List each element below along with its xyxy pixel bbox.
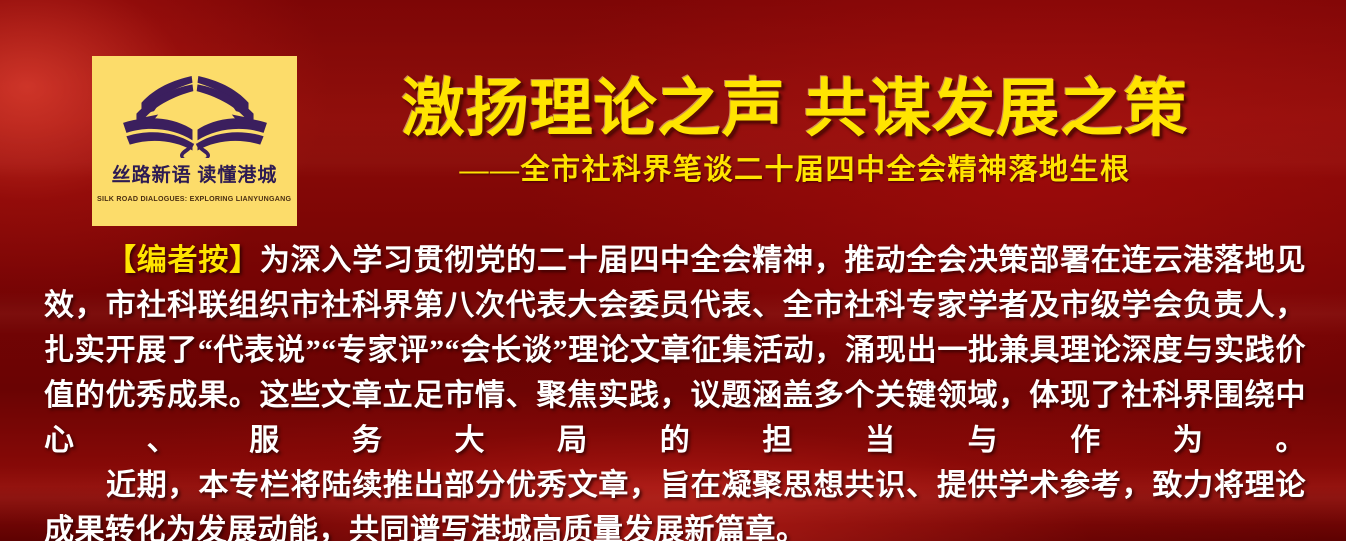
paragraph-2-text: 近期，本专栏将陆续推出部分优秀文章，旨在凝聚思想共识、提供学术参考，致力将理论成… [44,469,1306,541]
paragraph-2: 近期，本专栏将陆续推出部分优秀文章，旨在凝聚思想共识、提供学术参考，致力将理论成… [44,463,1306,541]
main-title: 激扬理论之声 共谋发展之策 [315,74,1275,144]
title-block: 激扬理论之声 共谋发展之策 ——全市社科界笔谈二十届四中全会精神落地生根 [315,74,1275,190]
logo-badge: 丝路新语 读懂港城 SILK ROAD DIALOGUES: EXPLORING… [92,56,297,226]
banner-root: 丝路新语 读懂港城 SILK ROAD DIALOGUES: EXPLORING… [0,0,1346,541]
editor-note-label: 【编者按】 [106,244,260,277]
sub-title: ——全市社科界笔谈二十届四中全会精神落地生根 [315,150,1275,190]
logo-chinese-slogan: 丝路新语 读懂港城 [112,160,278,187]
logo-english-slogan: SILK ROAD DIALOGUES: EXPLORING LIANYUNGA… [97,194,291,203]
open-book-emblem [111,66,279,158]
editors-note-body: 【编者按】为深入学习贯彻党的二十届四中全会精神，推动全会决策部署在连云港落地见效… [44,238,1306,541]
paragraph-1: 【编者按】为深入学习贯彻党的二十届四中全会精神，推动全会决策部署在连云港落地见效… [44,238,1306,463]
